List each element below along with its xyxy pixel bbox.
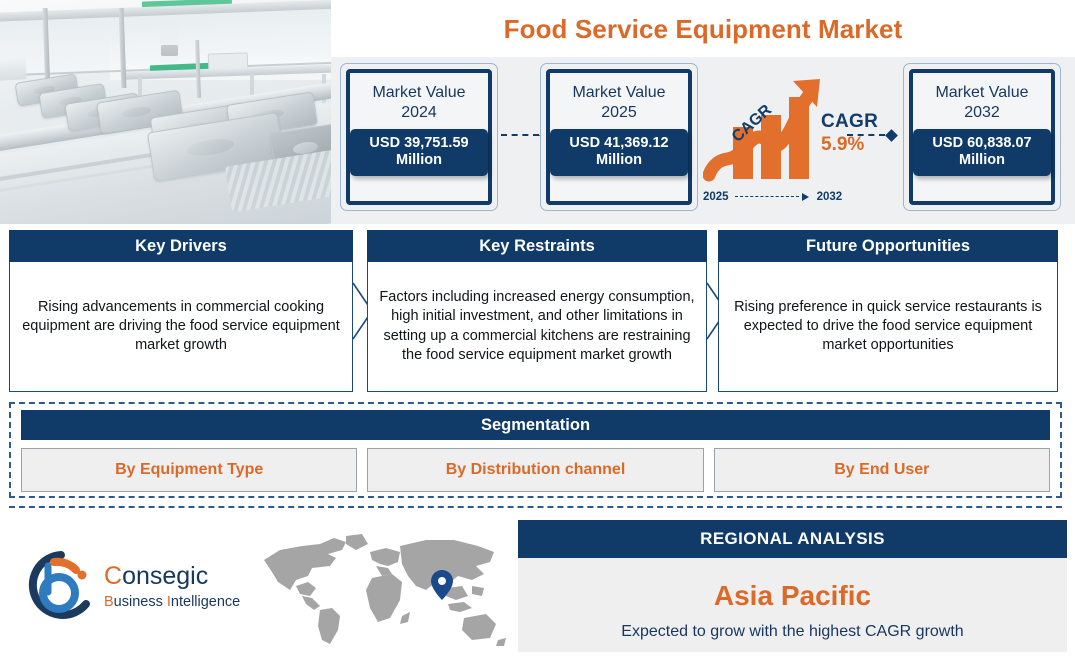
logo-name-rest: onsegic <box>122 562 208 590</box>
metrics-strip: Market Value 2024 USD 39,751.59 Million … <box>331 57 1075 224</box>
market-value-amount: USD 39,751.59 Million <box>350 129 488 176</box>
connector-dotted-cagr-2032 <box>847 130 896 140</box>
market-value-amount: USD 60,838.07 Million <box>913 129 1051 176</box>
key-insight-row: Key Drivers Rising advancements in comme… <box>0 230 1075 392</box>
growth-chart-icon: CAGR <box>703 75 831 187</box>
regional-analysis-panel: REGIONAL ANALYSIS Asia Pacific Expected … <box>518 520 1067 652</box>
footer-divider <box>9 506 1062 508</box>
key-restraints-text: Factors including increased energy consu… <box>376 288 698 365</box>
market-value-year: 2025 <box>601 103 637 122</box>
segment-label: By Distribution channel <box>446 461 626 479</box>
cagr-end-year: 2032 <box>817 191 843 203</box>
logo-sub-usiness: usiness <box>114 594 167 610</box>
footer-section: Consegic Business Intelligence <box>0 506 1075 660</box>
top-band: Food Service Equipment Market Market Val… <box>0 0 1075 224</box>
market-value-card-2025: Market Value 2025 USD 41,369.12 Million <box>540 63 698 211</box>
key-restraints-box: Key Restraints Factors including increas… <box>367 230 711 392</box>
market-value-card-2032: Market Value 2032 USD 60,838.07 Million <box>903 63 1061 211</box>
future-opportunities-heading: Future Opportunities <box>718 230 1058 262</box>
segment-by-equipment-type[interactable]: By Equipment Type <box>21 448 357 492</box>
diamond-icon <box>885 129 898 142</box>
regional-analysis-note: Expected to grow with the highest CAGR g… <box>518 623 1067 641</box>
regional-analysis-heading: REGIONAL ANALYSIS <box>518 520 1067 558</box>
key-drivers-box: Key Drivers Rising advancements in comme… <box>9 230 357 392</box>
key-restraints-heading: Key Restraints <box>367 230 707 262</box>
cagr-block: CAGR CAGR 5.9% 2025 2032 <box>703 75 893 213</box>
market-value-label: Market Value <box>572 84 665 103</box>
world-map <box>250 530 510 650</box>
key-drivers-text: Rising advancements in commercial cookin… <box>18 298 344 355</box>
page-title: Food Service Equipment Market <box>331 14 1075 45</box>
future-opportunities-text: Rising preference in quick service resta… <box>727 298 1049 355</box>
market-value-amount: USD 41,369.12 Million <box>550 129 688 176</box>
segment-label: By End User <box>834 461 929 479</box>
infographic-page: Food Service Equipment Market Market Val… <box>0 0 1075 660</box>
cagr-start-year: 2025 <box>703 191 729 203</box>
logo-tagline: Business Intelligence <box>104 594 240 610</box>
market-value-year: 2024 <box>401 103 437 122</box>
segment-by-end-user[interactable]: By End User <box>714 448 1050 492</box>
market-value-label: Market Value <box>935 84 1028 103</box>
segmentation-heading: Segmentation <box>21 410 1050 440</box>
market-value-label: Market Value <box>372 84 465 103</box>
segment-label: By Equipment Type <box>115 461 263 479</box>
hero-photo-commercial-kitchen <box>0 0 331 224</box>
logo-name-first: C <box>104 562 122 590</box>
segmentation-section: Segmentation By Equipment Type By Distri… <box>9 402 1062 498</box>
header-metrics-area: Food Service Equipment Market Market Val… <box>331 0 1075 224</box>
future-opportunities-box: Future Opportunities Rising preference i… <box>718 230 1060 392</box>
segment-by-distribution-channel[interactable]: By Distribution channel <box>367 448 703 492</box>
key-drivers-heading: Key Drivers <box>9 230 353 262</box>
logo-sub-ntelligence: ntelligence <box>171 594 240 610</box>
market-value-card-2024: Market Value 2024 USD 39,751.59 Million <box>340 63 498 211</box>
arrow-right-icon <box>735 193 811 201</box>
logo-sub-b: B <box>104 594 114 610</box>
company-logo: Consegic Business Intelligence <box>8 542 248 628</box>
logo-company-name: Consegic <box>104 564 240 589</box>
consegic-logo-icon <box>24 548 98 622</box>
regional-analysis-region: Asia Pacific <box>518 580 1067 612</box>
market-value-year: 2032 <box>964 103 1000 122</box>
cagr-year-axis: 2025 2032 <box>703 187 893 207</box>
logo-wordmark: Consegic Business Intelligence <box>104 564 240 610</box>
